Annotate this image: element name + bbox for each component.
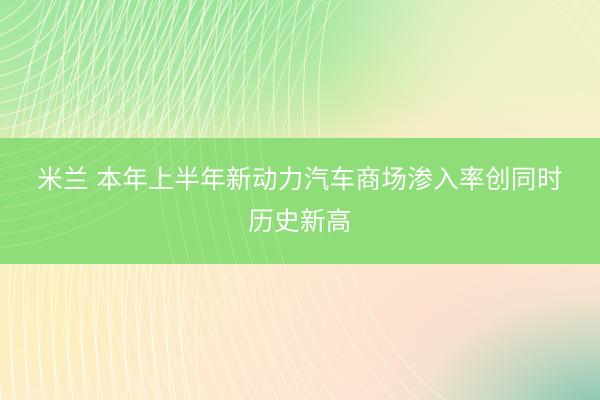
headline-line-1: 米兰 本年上半年新动力汽车商场渗入率创同时 <box>37 160 563 200</box>
banner-image: 米兰 本年上半年新动力汽车商场渗入率创同时 历史新高 <box>0 0 600 400</box>
headline-band: 米兰 本年上半年新动力汽车商场渗入率创同时 历史新高 <box>0 138 600 264</box>
headline-text: 米兰 本年上半年新动力汽车商场渗入率创同时 历史新高 <box>0 138 600 264</box>
headline-line-2: 历史新高 <box>248 202 352 242</box>
